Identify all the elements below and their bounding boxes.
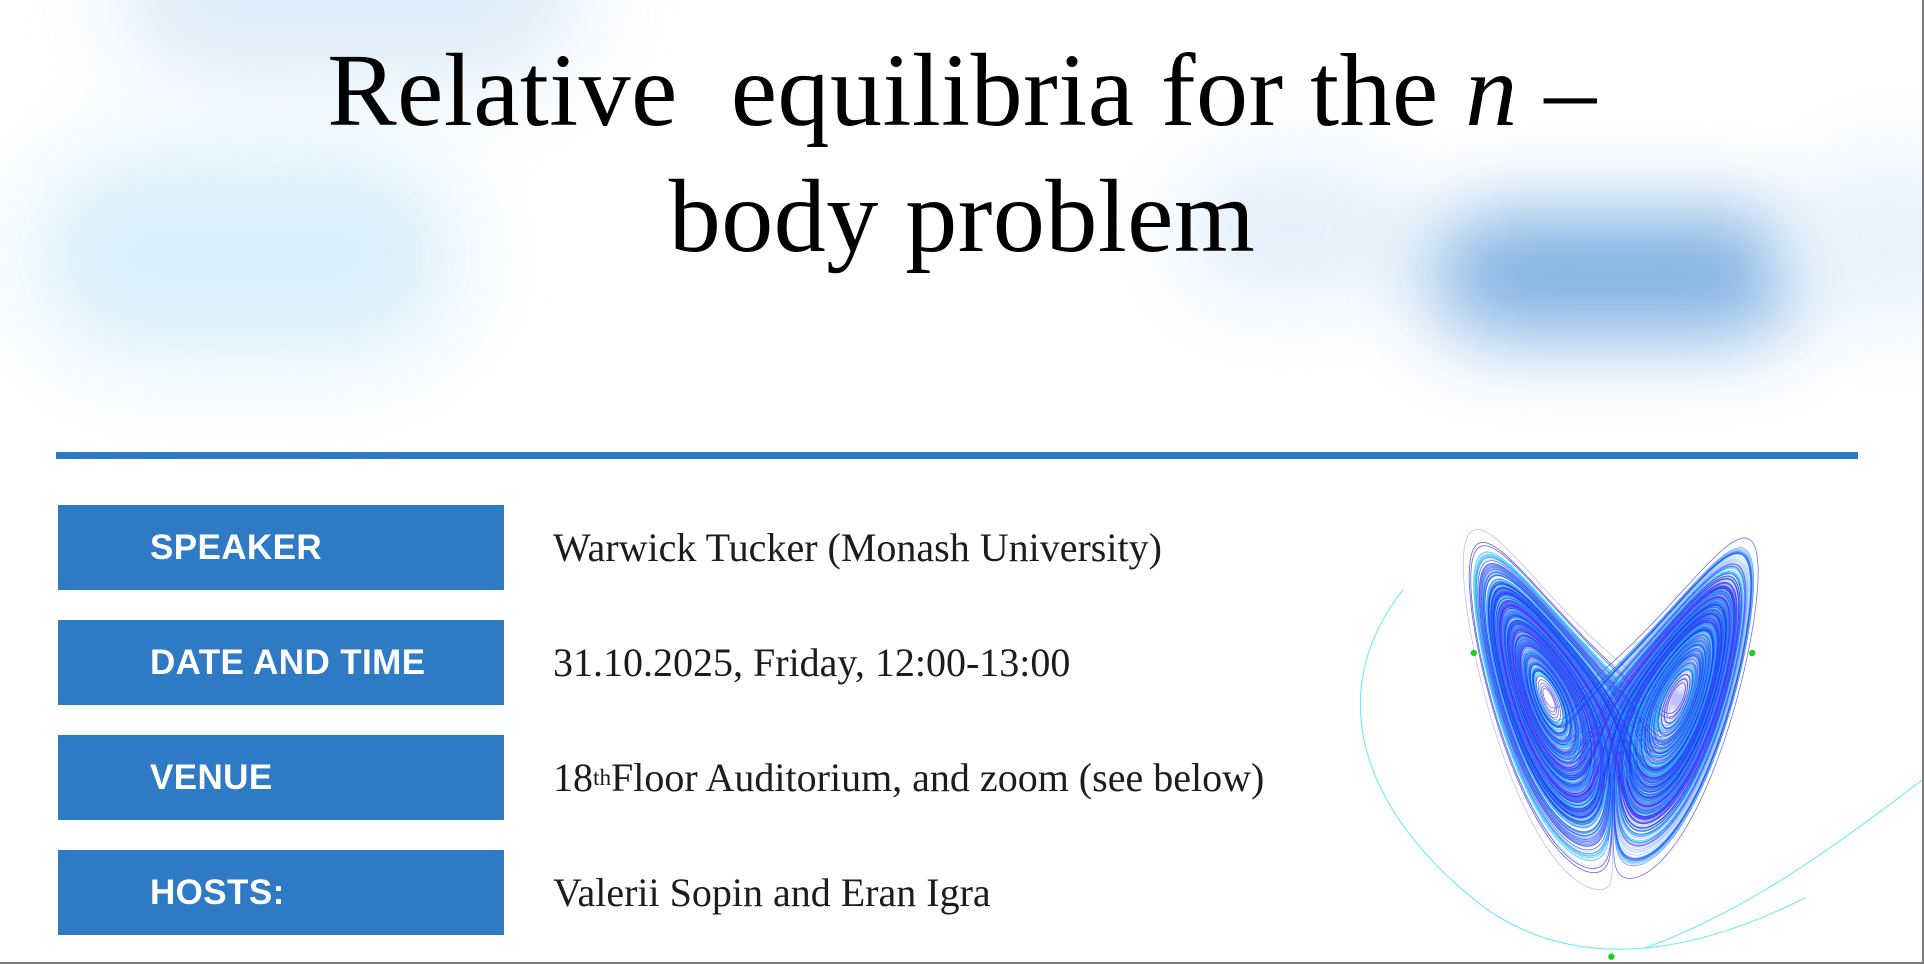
table-row-venue: VENUE 18th Floor Auditorium, and zoom (s… [0,735,1280,820]
divider-rule [56,452,1858,459]
label-bar-venue: VENUE [58,735,504,820]
label-bar-date-and-time: DATE AND TIME [58,620,504,705]
label-hosts: HOSTS: [58,873,285,913]
venue-floor-number: 18 [553,754,593,801]
value-date-and-time: 31.10.2025, Friday, 12:00-13:00 [553,620,1070,705]
title-line-1: Relative equilibria for the n – [0,28,1924,154]
lorenz-trajectory [1360,529,1924,949]
label-bar-hosts: HOSTS: [58,850,504,935]
lorenz-attractor-svg [1285,478,1924,964]
venue-description: Floor Auditorium, and zoom (see below) [611,754,1264,801]
value-venue: 18th Floor Auditorium, and zoom (see bel… [553,735,1264,820]
title-variable-n: n [1465,33,1518,148]
table-row-speaker: SPEAKER Warwick Tucker (Monash Universit… [0,505,1280,590]
title-text-suffix: – [1518,33,1597,148]
label-speaker: SPEAKER [58,528,322,568]
seminar-details-table: SPEAKER Warwick Tucker (Monash Universit… [0,505,1280,964]
lorenz-attractor-image [1285,478,1924,964]
label-venue: VENUE [58,758,273,798]
table-row-date-and-time: DATE AND TIME 31.10.2025, Friday, 12:00-… [0,620,1280,705]
value-hosts: Valerii Sopin and Eran Igra [553,850,991,935]
title-text-prefix: Relative equilibria for the [327,33,1465,148]
seminar-poster: Relative equilibria for the n – body pro… [0,0,1924,964]
table-row-hosts: HOSTS: Valerii Sopin and Eran Igra [0,850,1280,935]
label-date-and-time: DATE AND TIME [58,643,425,683]
label-bar-speaker: SPEAKER [58,505,504,590]
value-speaker: Warwick Tucker (Monash University) [553,505,1162,590]
page-title: Relative equilibria for the n – body pro… [0,28,1924,280]
title-line-2: body problem [0,154,1924,280]
